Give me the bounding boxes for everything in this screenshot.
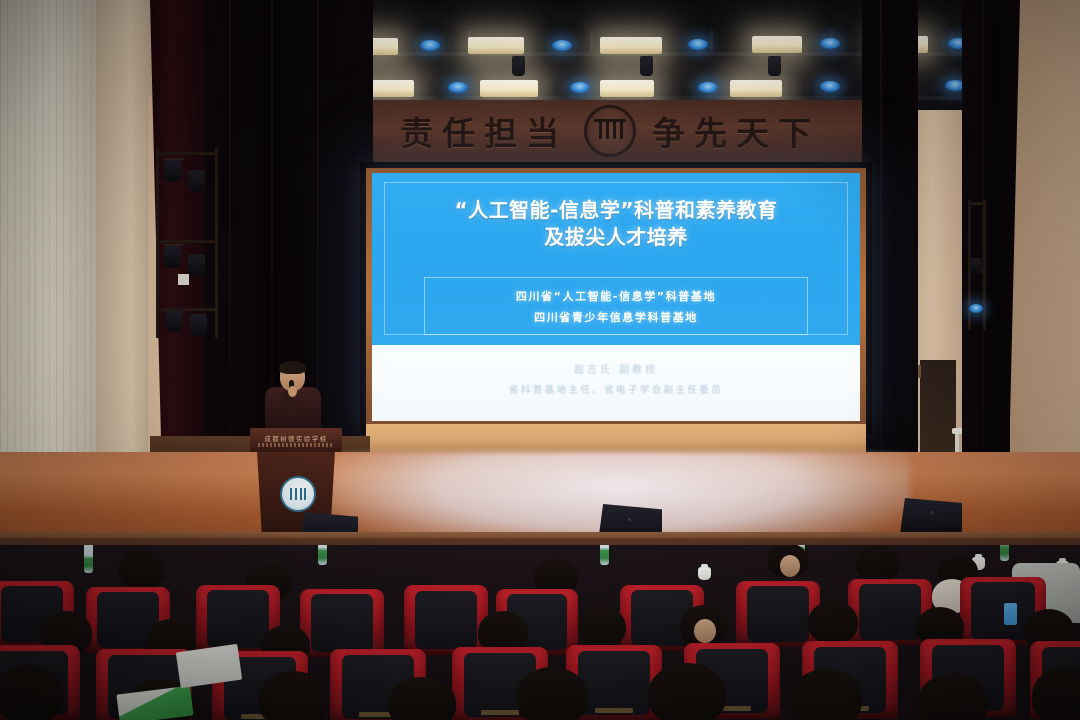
stage-monitor-right bbox=[900, 498, 962, 534]
blue-spot-light bbox=[448, 82, 468, 93]
school-crest-emblem bbox=[280, 476, 316, 512]
presenter-hair bbox=[279, 361, 306, 374]
stage-front-wall bbox=[366, 424, 866, 454]
projection-screen: “人工智能-信息学”科普和素养教育 及拔尖人才培养 四川省“人工智能-信息学”科… bbox=[372, 173, 860, 421]
slide-subtitle-box: 四川省“人工智能-信息学”科普基地 四川省青少年信息学科普基地 bbox=[424, 277, 808, 335]
audience-head bbox=[516, 667, 588, 720]
water-bottle bbox=[318, 545, 327, 565]
stage-bar-light bbox=[600, 37, 662, 54]
stage-light-fixture bbox=[188, 254, 205, 276]
stage-light-fixture bbox=[164, 246, 181, 268]
lighting-ladder-left bbox=[156, 148, 218, 338]
stage-light-fixture bbox=[970, 258, 982, 274]
audience-head bbox=[578, 607, 626, 647]
blue-spot-light bbox=[552, 40, 572, 51]
water-bottle bbox=[84, 545, 93, 573]
audience-head bbox=[780, 555, 800, 577]
audience-head bbox=[694, 619, 716, 643]
projection-screen-frame: “人工智能-信息学”科普和素养教育 及拔尖人才培养 四川省“人工智能-信息学”科… bbox=[366, 168, 866, 426]
blue-spot-light bbox=[820, 81, 840, 92]
audience-head bbox=[388, 677, 456, 720]
audience-head bbox=[790, 669, 862, 720]
slide-blue-panel: “人工智能-信息学”科普和素养教育 及拔尖人才培养 四川省“人工智能-信息学”科… bbox=[372, 173, 860, 345]
theater-seat bbox=[736, 581, 820, 647]
slide-subtitle-line1: 四川省“人工智能-信息学”科普基地 bbox=[516, 288, 716, 304]
school-crest-logo bbox=[584, 105, 636, 157]
blue-spot-light bbox=[688, 39, 708, 50]
stage-bar-light bbox=[480, 80, 538, 97]
auditorium-photo: 责任担当 争先天下 bbox=[0, 0, 1080, 720]
water-bottle bbox=[1000, 545, 1009, 561]
podium-sign-text: 成都树德实验学校 bbox=[264, 433, 327, 443]
audience-head bbox=[918, 673, 988, 720]
theater-seat bbox=[300, 589, 384, 657]
podium-sign-subline bbox=[258, 443, 334, 447]
stage-light-fixture bbox=[188, 170, 205, 192]
stage-bar-light bbox=[600, 80, 654, 97]
audience-head bbox=[258, 671, 328, 720]
stage-banner: 责任担当 争先天下 bbox=[330, 100, 890, 162]
stage-bar-light bbox=[468, 37, 524, 54]
slide-presenter-role: 省科普基地主任、省电子学会副主任委员 bbox=[509, 382, 723, 396]
slide-subtitle-line2: 四川省青少年信息学科普基地 bbox=[534, 309, 698, 325]
audience-head bbox=[856, 545, 900, 581]
podium-sign: 成都树德实验学校 bbox=[256, 433, 336, 442]
audience-head bbox=[808, 601, 858, 643]
stage-bar-light bbox=[752, 36, 802, 53]
stage-light-fixture bbox=[190, 314, 207, 336]
presenter-figure bbox=[262, 362, 324, 432]
banner-text-right: 争先天下 bbox=[652, 107, 820, 155]
audience-head bbox=[0, 665, 64, 720]
slide-title-line2: 及拔尖人才培养 bbox=[372, 224, 860, 251]
audience-head bbox=[118, 549, 164, 589]
banner-text-left: 责任担当 bbox=[400, 107, 568, 155]
water-bottle bbox=[600, 545, 609, 565]
blue-spot-light bbox=[969, 304, 983, 313]
theater-seat bbox=[404, 585, 488, 655]
blue-spot-light bbox=[698, 82, 718, 93]
blue-spot-light bbox=[420, 40, 440, 51]
audience-head bbox=[648, 663, 726, 720]
slide-presenter-name: 甜吉氏 副教授 bbox=[574, 361, 658, 376]
stage-light-fixture bbox=[166, 310, 183, 332]
slide-white-panel: 甜吉氏 副教授 省科普基地主任、省电子学会副主任委员 bbox=[372, 345, 860, 421]
tea-cup bbox=[698, 567, 711, 580]
lighting-ladder-right bbox=[968, 200, 986, 330]
blue-spot-light bbox=[820, 38, 840, 49]
stage-bar-light bbox=[730, 80, 782, 97]
phone-screen bbox=[1004, 603, 1017, 625]
blue-spot-light bbox=[570, 82, 590, 93]
slide-title: “人工智能-信息学”科普和素养教育 及拔尖人才培养 bbox=[372, 197, 860, 251]
stage-light-fixture bbox=[164, 160, 181, 182]
slide-title-line1: “人工智能-信息学”科普和素养教育 bbox=[372, 197, 860, 224]
